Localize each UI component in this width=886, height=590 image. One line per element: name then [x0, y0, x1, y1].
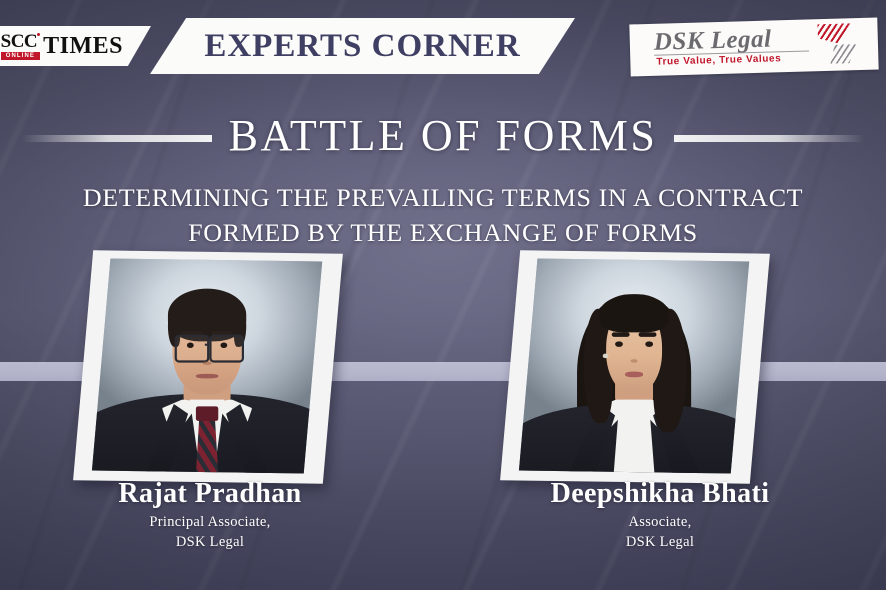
times-wordmark: TIMES — [43, 33, 123, 60]
poster-header: SCC ONLINE TIMES EXPERTS CORNER DSK Lega… — [0, 0, 886, 95]
earring-icon — [603, 354, 608, 358]
scc-mark: SCC ONLINE — [1, 32, 41, 60]
eyeglass-lens-right — [209, 335, 243, 362]
photo-frame-left — [73, 250, 343, 483]
author-firm: DSK Legal — [0, 533, 420, 553]
author-caption-left: Rajat Pradhan Principal Associate, DSK L… — [0, 478, 420, 552]
author-title: Associate, — [450, 513, 870, 533]
scc-online-times-logo: SCC ONLINE TIMES — [0, 26, 151, 66]
necktie-knot — [196, 406, 217, 420]
author-role: Principal Associate, DSK Legal — [0, 513, 420, 552]
author-caption-right: Deepshikha Bhati Associate, DSK Legal — [450, 478, 870, 552]
dsk-gray-stripes-icon — [830, 44, 857, 64]
scc-logo-group: SCC ONLINE TIMES — [1, 32, 123, 60]
portrait-image-deepshikha-bhati — [519, 259, 749, 474]
experts-corner-poster: SCC ONLINE TIMES EXPERTS CORNER DSK Lega… — [0, 0, 886, 590]
hair-top — [600, 295, 669, 333]
eyebrow-right — [639, 333, 657, 337]
nose-shadow — [631, 359, 638, 362]
experts-corner-banner: EXPERTS CORNER — [150, 18, 575, 74]
author-photo-left — [83, 252, 333, 482]
author-role: Associate, DSK Legal — [450, 513, 870, 552]
dsk-legal-tagline: True Value, True Values — [656, 53, 781, 67]
title-rule-left — [22, 135, 212, 142]
page-subtitle: DETERMINING THE PREVAILING TERMS IN A CO… — [0, 180, 886, 250]
author-title: Principal Associate, — [0, 513, 420, 533]
portrait-image-rajat-pradhan — [92, 259, 322, 474]
mouth — [625, 372, 644, 377]
eye-right — [220, 342, 227, 348]
author-photo-right — [510, 252, 760, 482]
mouth — [196, 374, 217, 378]
photo-mat-left — [92, 259, 322, 474]
scc-wordmark: SCC — [1, 32, 41, 51]
photo-frame-right — [500, 250, 770, 483]
eyeglass-bridge — [205, 343, 210, 346]
dsk-logo-inner: DSK Legal True Value, True Values — [629, 18, 878, 77]
subtitle-line-1: DETERMINING THE PREVAILING TERMS IN A CO… — [0, 180, 886, 215]
page-title: BATTLE OF FORMS — [219, 110, 668, 161]
photo-mat-right — [519, 259, 749, 474]
main-title-row: BATTLE OF FORMS — [0, 104, 886, 166]
eye-right — [645, 341, 653, 347]
dsk-red-stripes-icon — [817, 23, 852, 44]
author-firm: DSK Legal — [450, 533, 870, 553]
eyebrow-left — [612, 333, 630, 337]
author-name: Rajat Pradhan — [0, 478, 420, 510]
experts-corner-label: EXPERTS CORNER — [204, 28, 520, 65]
dsk-legal-logo: DSK Legal True Value, True Values — [629, 18, 878, 77]
nose-shadow — [203, 361, 211, 365]
subtitle-line-2: FORMED BY THE EXCHANGE OF FORMS — [0, 215, 886, 250]
eyeglass-lens-left — [175, 335, 209, 362]
author-name: Deepshikha Bhati — [450, 478, 870, 510]
title-rule-right — [674, 135, 864, 142]
scc-online-badge: ONLINE — [1, 52, 41, 60]
